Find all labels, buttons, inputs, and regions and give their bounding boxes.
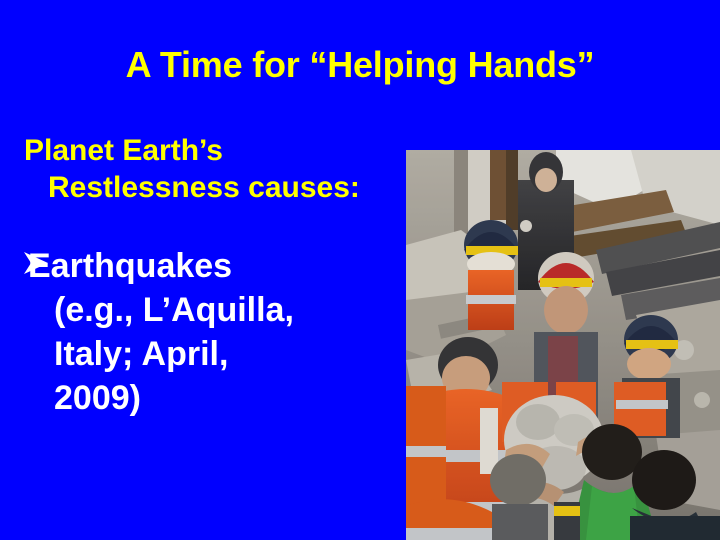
page-title: A Time for “Helping Hands” xyxy=(30,44,690,86)
lead-line-2: Restlessness xyxy=(48,171,240,204)
bullet-line-2: (e.g., L’Aquilla, xyxy=(54,291,294,329)
lead-line-1: Planet Earth’s xyxy=(24,134,223,167)
lead-line-3: causes: xyxy=(248,171,360,204)
bullet-line-1: Earthquakes xyxy=(28,247,232,285)
list-item-text: Earthquakes (e.g., L’Aquilla, Italy; Apr… xyxy=(54,244,400,420)
body-text-column: Planet Earth’s Restlessness causes: Eart… xyxy=(0,132,400,420)
lead-paragraph: Planet Earth’s Restlessness causes: xyxy=(0,132,400,206)
paragraph-spacer xyxy=(0,206,400,244)
list-item: Earthquakes (e.g., L’Aquilla, Italy; Apr… xyxy=(0,244,400,420)
earthquake-rescue-photo xyxy=(406,150,720,540)
bullet-line-3: Italy; April, xyxy=(54,335,228,373)
slide-canvas: A Time for “Helping Hands” Planet Earth’… xyxy=(0,0,720,540)
arrowhead-bullet-icon xyxy=(22,246,50,280)
bullet-line-4: 2009) xyxy=(54,379,141,417)
